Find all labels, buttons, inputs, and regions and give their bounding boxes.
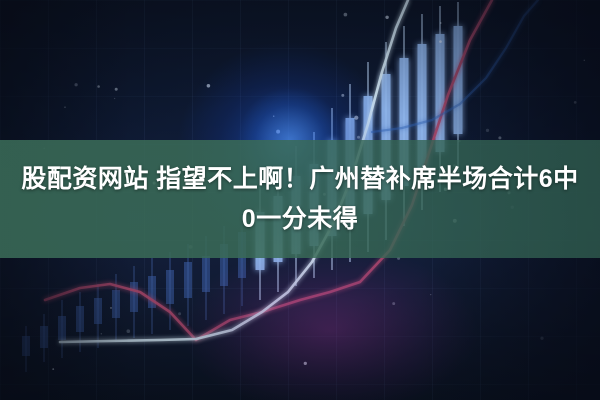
headline-line-1: 股配资网站 指望不上啊！广州替补席半场合计6中 (21, 159, 578, 199)
stock-chart-banner: 股配资网站 指望不上啊！广州替补席半场合计6中 0一分未得 (0, 0, 600, 400)
page-title: 股配资网站 指望不上啊！广州替补席半场合计6中 0一分未得 (0, 140, 600, 258)
headline-line-2: 0一分未得 (242, 199, 358, 239)
